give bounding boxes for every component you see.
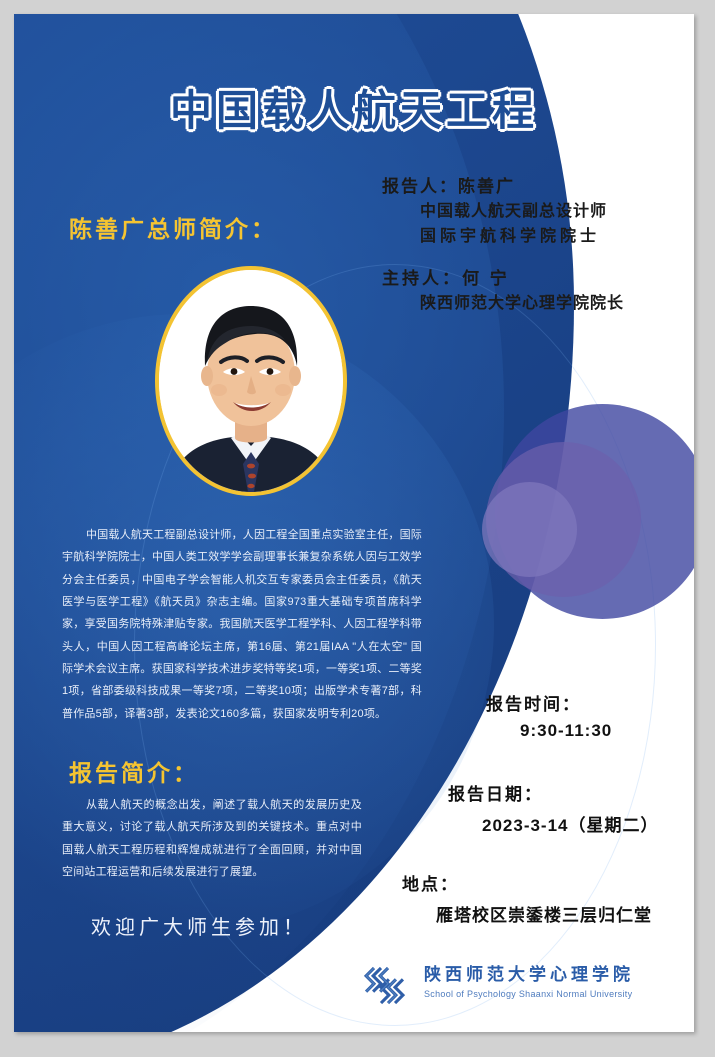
welcome-note: 欢迎广大师生参加！: [91, 911, 307, 940]
speaker-portrait-avatar: [155, 266, 347, 496]
bio-paragraph: 中国载人航天工程副总设计师，人因工程全国重点实验室主任，国际宇航科学院院士，中国…: [62, 524, 422, 725]
report-section-heading: 报告简介：: [69, 754, 199, 788]
purple-circle-small: [482, 482, 577, 577]
report-time-value: 9:30-11:30: [520, 721, 612, 741]
report-date-block: 报告日期： 2023-3-14（星期二）: [448, 780, 659, 836]
org-name-en: School of Psychology Shaanxi Normal Univ…: [424, 989, 634, 999]
poster-root: 中国载人航天工程 报告人：陈善广 中国载人航天副总设计师 国际宇航科学院院士 主…: [0, 0, 715, 1057]
org-name-cn: 陕西师范大学心理学院: [424, 965, 634, 985]
speaker-info-block: 报告人：陈善广 中国载人航天副总设计师 国际宇航科学院院士 主持人：何 宁 陕西…: [382, 174, 694, 317]
bio-section-heading: 陈善广总师简介：: [69, 210, 277, 244]
report-time-label: 报告时间：: [486, 690, 612, 715]
maze-diamond-logo-icon: [350, 950, 412, 1014]
poster-page: 中国载人航天工程 报告人：陈善广 中国载人航天副总设计师 国际宇航科学院院士 主…: [14, 14, 694, 1032]
report-place-value: 雁塔校区崇鋈楼三层归仁堂: [436, 901, 652, 926]
report-paragraph: 从载人航天的概念出发，阐述了载人航天的发展历史及重大意义，讨论了载人航天所涉及到…: [62, 794, 362, 883]
page-title: 中国载人航天工程: [14, 77, 694, 138]
footer-logo-text: 陕西师范大学心理学院 School of Psychology Shaanxi …: [424, 965, 634, 998]
portrait-illustration: [159, 270, 343, 492]
report-place-block: 地点： 雁塔校区崇鋈楼三层归仁堂: [402, 870, 652, 926]
report-place-label: 地点：: [402, 870, 652, 895]
host-title: 陕西师范大学心理学院院长: [420, 292, 694, 317]
speaker-title-secondary: 国际宇航科学院院士: [420, 225, 694, 250]
report-date-label: 报告日期：: [448, 780, 659, 805]
speaker-name-line: 报告人：陈善广: [382, 174, 694, 200]
host-name-line: 主持人：何 宁: [382, 266, 694, 292]
report-time-block: 报告时间： 9:30-11:30: [486, 690, 612, 741]
report-date-value: 2023-3-14（星期二）: [482, 811, 659, 836]
footer-logo: 陕西师范大学心理学院 School of Psychology Shaanxi …: [350, 950, 634, 1014]
speaker-title-primary: 中国载人航天副总设计师: [420, 200, 694, 225]
